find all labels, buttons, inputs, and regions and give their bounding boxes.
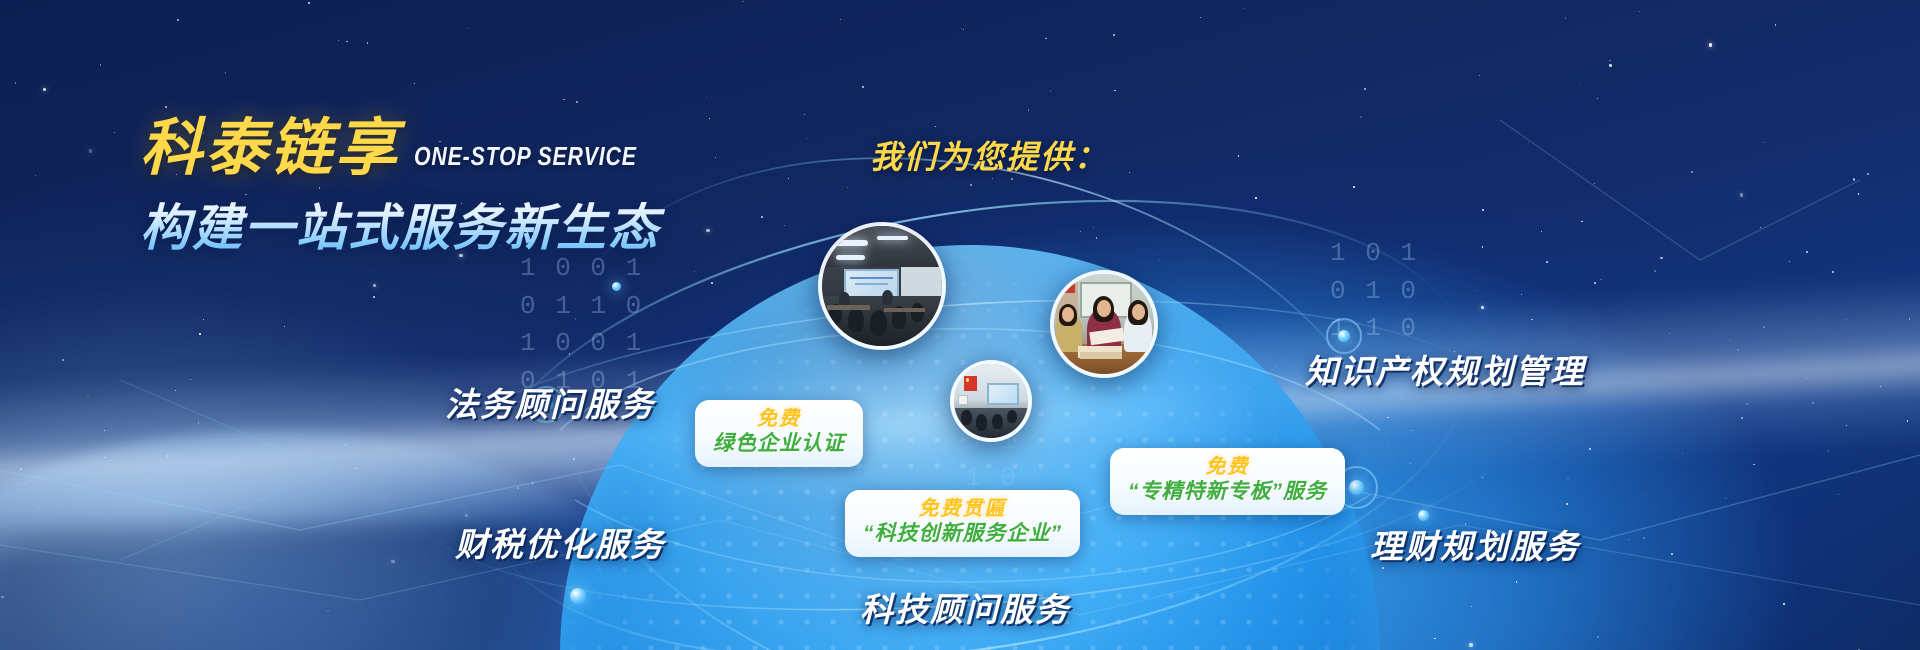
service-label-tax: 财税优化服务: [455, 518, 665, 566]
network-node-2: [570, 588, 586, 604]
service-label-tech: 科技顾问服务: [860, 583, 1070, 631]
badge-tech-innovation: 免费贯匾 “科技创新服务企业”: [845, 490, 1080, 557]
photo-document-review: [1050, 270, 1158, 378]
promotional-banner: 1 0 0 1 0 1 1 0 1 0 0 1 0 1 0 1 1 0 1 0 …: [0, 0, 1920, 650]
badge-green-enterprise-line2: 绿色企业认证: [713, 431, 845, 457]
service-label-ip: 知识产权规划管理: [1305, 345, 1585, 393]
headline-block: 科泰链享 ONE-STOP SERVICE 构建一站式服务新生态: [140, 118, 686, 260]
network-node-3: [1338, 330, 1350, 342]
title-english-subtitle: ONE-STOP SERVICE: [414, 141, 637, 180]
provide-heading: 我们为您提供：: [870, 132, 1108, 178]
badge-green-enterprise: 免费 绿色企业认证: [695, 400, 863, 467]
service-label-wealth: 理财规划服务: [1370, 520, 1580, 568]
badge-green-enterprise-line1: 免费: [713, 408, 845, 431]
page-subtitle: 构建一站式服务新生态: [140, 188, 686, 260]
network-node-6: [612, 282, 621, 291]
photo-meeting-room: [950, 360, 1032, 442]
badge-tech-innovation-line1: 免费贯匾: [863, 498, 1062, 521]
network-node-4: [1349, 480, 1364, 495]
page-title: 科泰链享: [140, 118, 400, 180]
badge-tech-innovation-line2: “科技创新服务企业”: [863, 521, 1062, 547]
service-label-legal: 法务顾问服务: [445, 378, 655, 426]
photo-lecture-hall: [818, 222, 946, 350]
badge-specialized-new-line2: “专精特新专板”服务: [1128, 479, 1327, 505]
badge-specialized-new: 免费 “专精特新专板”服务: [1110, 448, 1345, 515]
badge-specialized-new-line1: 免费: [1128, 456, 1327, 479]
